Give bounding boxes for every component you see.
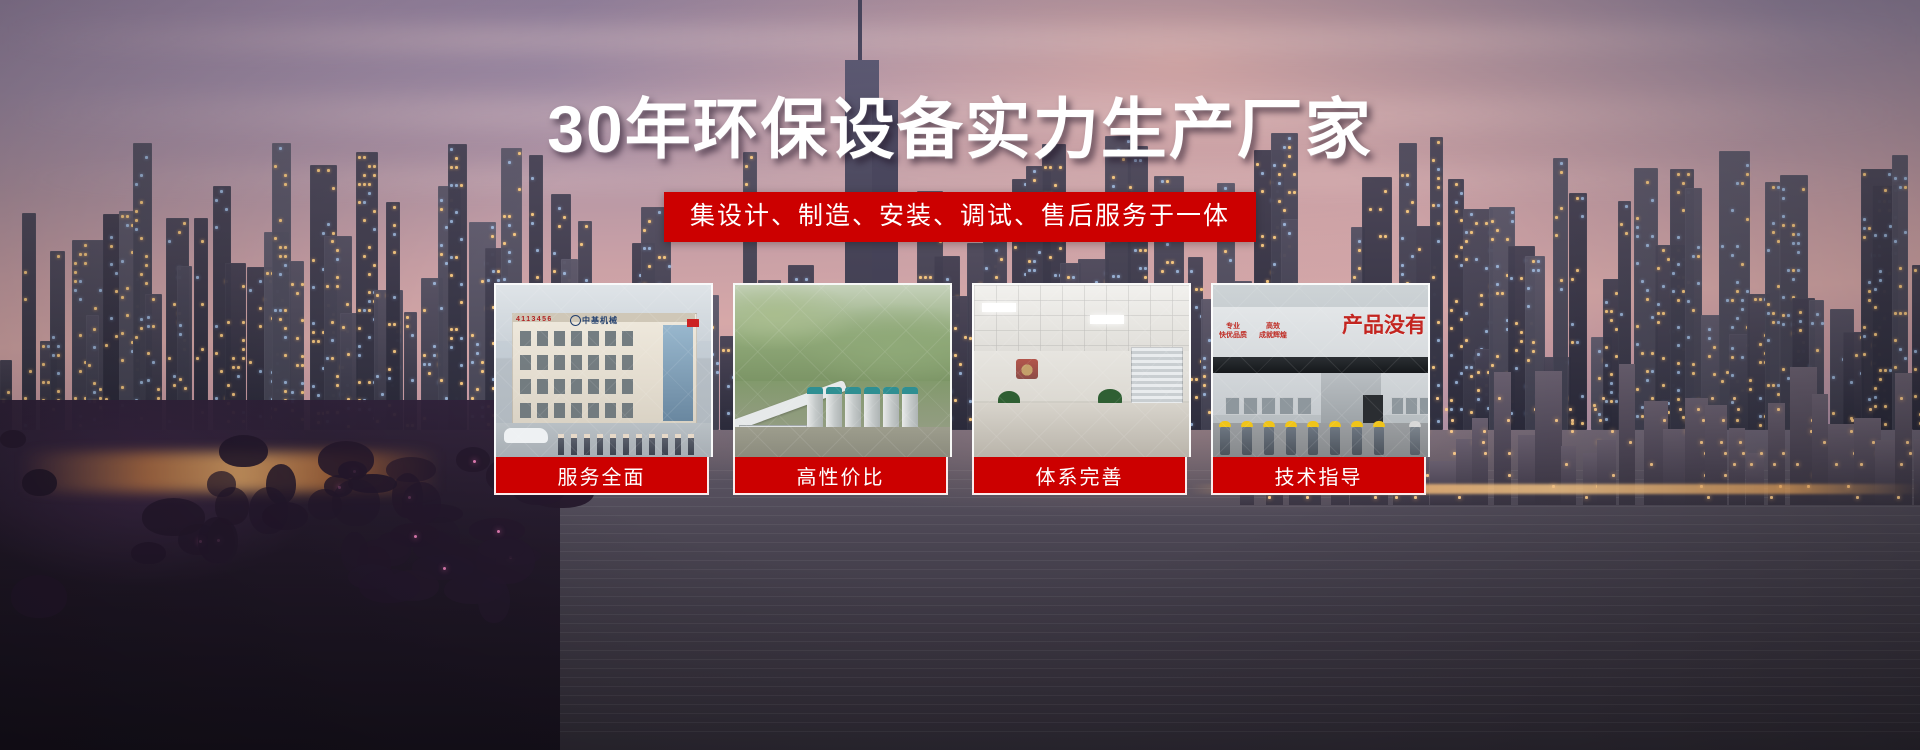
banner-content: 30年环保设备实力生产厂家 集设计、制造、安装、调试、售后服务于一体 中基机械 …	[0, 0, 1920, 750]
building-signage: 中基机械	[582, 315, 618, 326]
card-caption: 技术指导	[1211, 457, 1426, 495]
card-thumbnail-factory: 产品没有 专业快优品质 高效成就辉煌	[1211, 283, 1430, 457]
hero-banner: 30年环保设备实力生产厂家 集设计、制造、安装、调试、售后服务于一体 中基机械 …	[0, 0, 1920, 750]
subtitle-wrapper: 集设计、制造、安装、调试、售后服务于一体	[0, 192, 1920, 242]
feature-card-list: 中基机械 4113456 服务全面	[0, 283, 1920, 495]
card-thumbnail-office-interior	[972, 283, 1191, 457]
feature-card[interactable]: 产品没有 专业快优品质 高效成就辉煌 技术指导	[1211, 283, 1426, 495]
factory-wall-slogan-small: 专业快优品质	[1219, 323, 1247, 341]
flag-icon	[687, 319, 699, 327]
car-shape	[504, 428, 548, 443]
card-thumbnail-office-building: 中基机械 4113456	[494, 283, 713, 457]
subtitle-banner: 集设计、制造、安装、调试、售后服务于一体	[664, 192, 1256, 242]
factory-wall-slogan: 产品没有	[1342, 309, 1426, 339]
feature-card[interactable]: 中基机械 4113456 服务全面	[494, 283, 709, 495]
company-logo-icon	[570, 315, 581, 326]
wall-emblem-icon	[1016, 359, 1038, 379]
feature-card[interactable]: 高性价比	[733, 283, 948, 495]
window-blinds	[1131, 347, 1183, 405]
card-caption: 高性价比	[733, 457, 948, 495]
card-thumbnail-aerial-plant	[733, 283, 952, 457]
feature-card[interactable]: 体系完善	[972, 283, 1187, 495]
factory-wall-slogan-small: 高效成就辉煌	[1259, 323, 1287, 341]
building-phone-number: 4113456	[516, 316, 553, 323]
page-title: 30年环保设备实力生产厂家	[0, 96, 1920, 162]
card-caption: 服务全面	[494, 457, 709, 495]
card-caption: 体系完善	[972, 457, 1187, 495]
